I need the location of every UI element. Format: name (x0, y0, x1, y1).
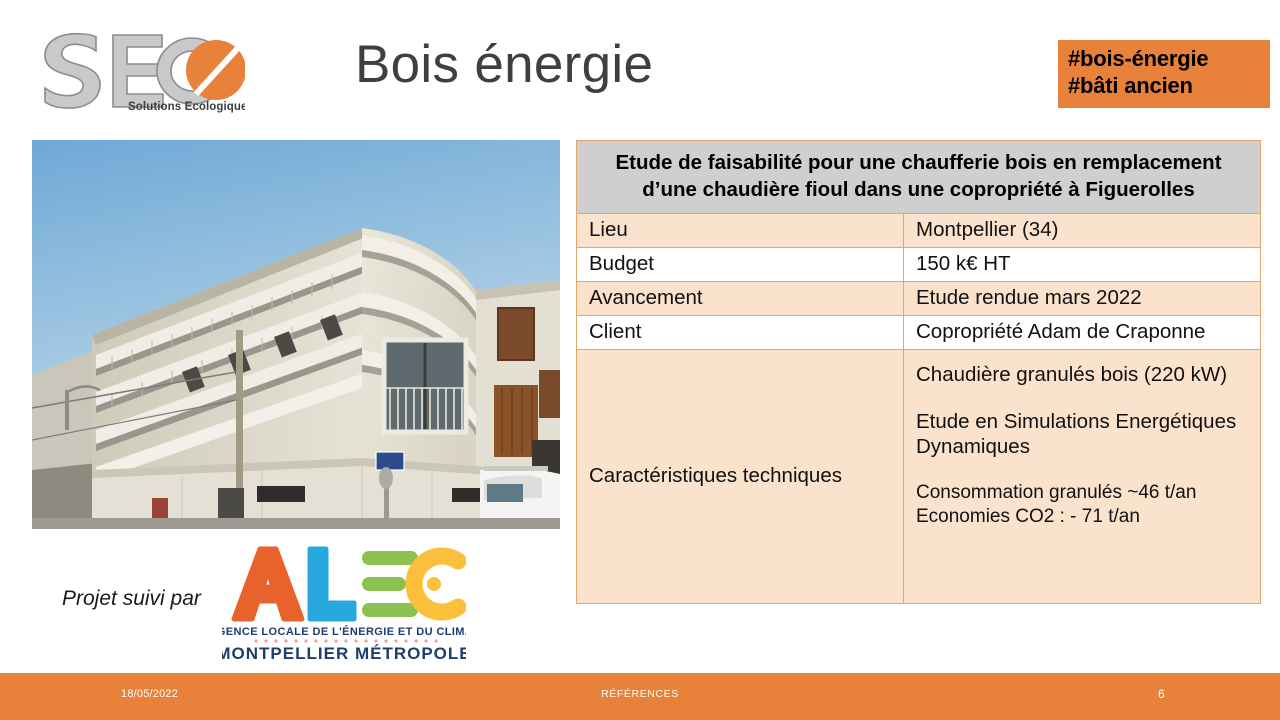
table-row-specs: Caractéristiques techniques Chaudière gr… (577, 350, 1261, 604)
footer-page-number: 6 (1158, 687, 1165, 701)
table-title-cell: Etude de faisabilité pour une chaufferie… (577, 141, 1261, 214)
row-value-caracteristiques: Chaudière granulés bois (220 kW) Etude e… (904, 350, 1261, 604)
page-title: Bois énergie (355, 36, 653, 94)
footer-bar: 18/05/2022 RÉFÉRENCES 6 (0, 673, 1280, 720)
spec-boiler: Chaudière granulés bois (220 kW) (916, 362, 1250, 387)
hashtag-bati-ancien: #bâti ancien (1068, 73, 1270, 100)
project-photo (32, 140, 560, 529)
row-key-client: Client (577, 316, 904, 350)
table-row: Lieu Montpellier (34) (577, 214, 1261, 248)
hashtag-bois-energie: #bois-énergie (1068, 46, 1270, 73)
row-value-lieu: Montpellier (34) (904, 214, 1261, 248)
followed-by-label: Projet suivi par (62, 587, 201, 611)
row-value-client: Copropriété Adam de Craponne (904, 316, 1261, 350)
table-row: Budget 150 k€ HT (577, 248, 1261, 282)
spec-study: Etude en Simulations Energétiques Dynami… (916, 409, 1250, 459)
hashtag-badge: #bois-énergie #bâti ancien (1058, 40, 1270, 108)
table-row: Avancement Etude rendue mars 2022 (577, 282, 1261, 316)
table-header-row: Etude de faisabilité pour une chaufferie… (577, 141, 1261, 214)
row-value-budget: 150 k€ HT (904, 248, 1261, 282)
spec-co2: Economies CO2 : - 71 t/an (916, 505, 1250, 529)
alec-logo: AGENCE LOCALE DE L'ÉNERGIE ET DU CLIMAT … (222, 533, 466, 661)
row-key-caracteristiques: Caractéristiques techniques (577, 350, 904, 604)
row-key-avancement: Avancement (577, 282, 904, 316)
alec-tagline-line1: AGENCE LOCALE DE L'ÉNERGIE ET DU CLIMAT (222, 625, 466, 638)
spec-spacer (916, 387, 1250, 409)
table-row: Client Copropriété Adam de Craponne (577, 316, 1261, 350)
row-value-avancement: Etude rendue mars 2022 (904, 282, 1261, 316)
spec-spacer (916, 459, 1250, 481)
row-key-lieu: Lieu (577, 214, 904, 248)
spec-consumption: Consommation granulés ~46 t/an (916, 481, 1250, 505)
seco-logo-tagline: Solutions Ecologiques (128, 101, 245, 113)
alec-tagline-line2: MONTPELLIER MÉTROPOLE (222, 644, 466, 661)
project-info-table: Etude de faisabilité pour une chaufferie… (576, 140, 1261, 604)
row-key-budget: Budget (577, 248, 904, 282)
footer-section-label: RÉFÉRENCES (0, 688, 1280, 700)
seco-logo: Solutions Ecologiques (30, 20, 245, 115)
